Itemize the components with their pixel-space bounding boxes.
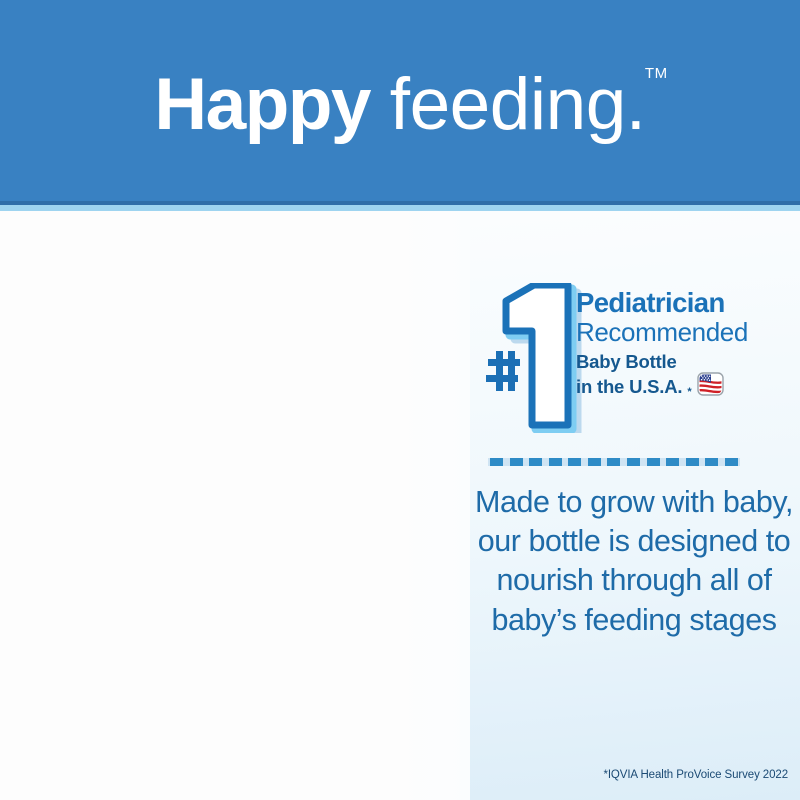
badge-line-usa-row: in the U.S.A.* (576, 374, 791, 398)
advertisement-canvas: Happy feeding.TM (0, 0, 800, 800)
divider-dash (725, 458, 738, 466)
divider-dash-group (488, 458, 740, 466)
badge-line-in-the-usa: in the U.S.A. (576, 376, 682, 398)
divider-dash (510, 458, 523, 466)
divider-dash (549, 458, 562, 466)
divider-dash (686, 458, 699, 466)
lifestyle-photo (0, 211, 470, 800)
usa-flag-icon (697, 372, 724, 396)
divider-dash (607, 458, 620, 466)
divider-dash (647, 458, 660, 466)
wordmark-happy: Happy (154, 64, 370, 145)
badge-text-block: Pediatrician Recommended Baby Bottle in … (576, 289, 791, 398)
badge-line-baby-bottle: Baby Bottle (576, 351, 791, 373)
brand-wordmark: Happy feeding.TM (154, 68, 645, 141)
badge-line-pediatrician: Pediatrician (576, 289, 791, 317)
divider-dash (705, 458, 718, 466)
divider-dash (588, 458, 601, 466)
survey-footnote: *IQVIA Health ProVoice Survey 2022 (603, 769, 788, 781)
hash-symbol-icon (486, 351, 520, 391)
divider-dash (666, 458, 679, 466)
trademark-icon: TM (645, 66, 668, 81)
badge-line-recommended: Recommended (576, 318, 791, 347)
badge-asterisk: * (687, 387, 691, 398)
photo-backdrop (0, 211, 470, 800)
marketing-body-copy: Made to grow with baby, our bottle is de… (474, 483, 794, 640)
dashed-divider (488, 458, 740, 466)
divider-dash (627, 458, 640, 466)
wordmark-feeding: feeding. (370, 64, 646, 145)
right-content-column: Pediatrician Recommended Baby Bottle in … (470, 211, 800, 800)
divider-dash (568, 458, 581, 466)
pediatrician-recommended-badge: Pediatrician Recommended Baby Bottle in … (480, 283, 790, 435)
divider-dash (490, 458, 503, 466)
banner-content: Happy feeding.TM (0, 0, 800, 201)
divider-dash (529, 458, 542, 466)
